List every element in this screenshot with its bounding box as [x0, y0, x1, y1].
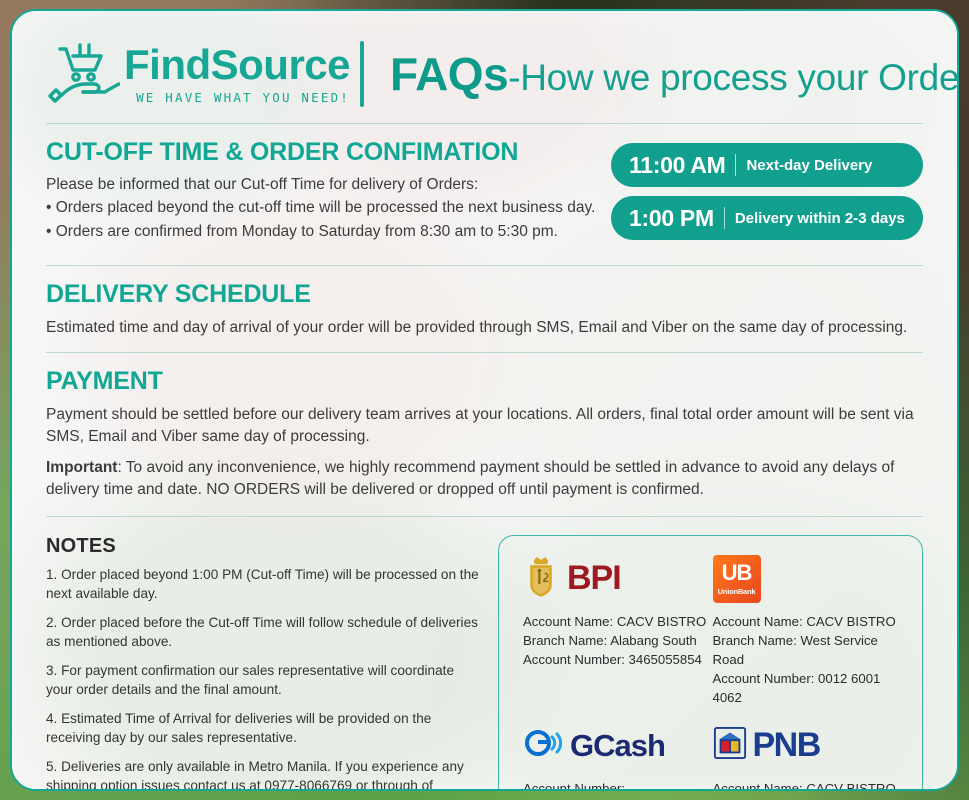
payment-method-bpi: BPI Account Name: CACV BISTRO Branch Nam…	[523, 554, 713, 707]
payment-methods-panel: BPI Account Name: CACV BISTRO Branch Nam…	[498, 535, 923, 791]
payment-method-pnb: PNB Account Name: CACV BISTRO Branch Nam…	[713, 721, 903, 791]
badge-time: 11:00 AM	[629, 152, 725, 179]
bpi-logo-icon	[523, 553, 559, 604]
bottom-area: NOTES 1. Order placed beyond 1:00 PM (Cu…	[46, 517, 923, 791]
unionbank-account-name: Account Name: CACV BISTRO	[713, 612, 903, 631]
payment-section: PAYMENT Payment should be settled before…	[46, 353, 923, 500]
page-title-strong: FAQs	[390, 48, 508, 100]
faq-card: FindSource WE HAVE WHAT YOU NEED! FAQs-H…	[10, 9, 959, 791]
cart-in-hand-icon	[46, 39, 120, 109]
payment-text: Payment should be settled before our del…	[46, 404, 923, 447]
important-text: : To avoid any inconvenience, we highly …	[46, 459, 894, 497]
note-item: 2. Order placed before the Cut-off Time …	[46, 613, 484, 651]
note-item: 1. Order placed beyond 1:00 PM (Cut-off …	[46, 565, 484, 603]
unionbank-account-number: Account Number: 0012 6001 4062	[713, 669, 903, 707]
poster-background: FindSource WE HAVE WHAT YOU NEED! FAQs-H…	[0, 0, 969, 800]
bpi-branch-name: Branch Name: Alabang South	[523, 631, 713, 650]
status-badge-next-day: 11:00 AM Next-day Delivery	[611, 143, 923, 187]
unionbank-branch-name: Branch Name: West Service Road	[713, 631, 903, 669]
pnb-logo-icon	[713, 726, 747, 765]
notes-title: NOTES	[46, 535, 484, 558]
brand-tagline: WE HAVE WHAT YOU NEED!	[124, 90, 350, 105]
delivery-title: DELIVERY SCHEDULE	[46, 280, 923, 309]
payment-method-unionbank: UB UnionBank Account Name: CACV BISTRO B…	[713, 554, 903, 707]
status-badge-2-3-days: 1:00 PM Delivery within 2-3 days	[611, 196, 923, 240]
badge-label: Next-day Delivery	[746, 157, 872, 174]
page-title: FAQs-How we process your Orders	[390, 47, 959, 101]
cutoff-title: CUT-OFF TIME & ORDER CONFIMATION	[46, 138, 611, 167]
note-item: 4. Estimated Time of Arrival for deliver…	[46, 709, 484, 747]
gcash-account-label: Account Number:	[523, 779, 713, 791]
badge-label: Delivery within 2-3 days	[735, 210, 905, 227]
badge-separator	[735, 154, 736, 176]
delivery-text: Estimated time and day of arrival of you…	[46, 317, 923, 338]
important-label: Important	[46, 459, 117, 476]
cutoff-badges: 11:00 AM Next-day Delivery 1:00 PM Deliv…	[611, 138, 923, 249]
delivery-schedule-section: DELIVERY SCHEDULE Estimated time and day…	[46, 266, 923, 338]
brand-name: FindSource	[124, 44, 350, 86]
unionbank-wordmark: UnionBank	[718, 587, 756, 596]
bpi-account-number: Account Number: 3465055854	[523, 650, 713, 669]
badge-time: 1:00 PM	[629, 205, 714, 232]
note-item: 3. For payment confirmation our sales re…	[46, 661, 484, 699]
cutoff-section: CUT-OFF TIME & ORDER CONFIMATION Please …	[46, 124, 923, 249]
bpi-account-name: Account Name: CACV BISTRO	[523, 612, 713, 631]
header-divider-bar	[360, 41, 364, 107]
page-title-rest: -How we process your Orders	[508, 57, 959, 98]
badge-separator	[724, 207, 725, 229]
brand-logo: FindSource WE HAVE WHAT YOU NEED!	[46, 39, 350, 109]
page-header: FindSource WE HAVE WHAT YOU NEED! FAQs-H…	[46, 11, 923, 123]
payment-method-gcash: GCash Account Number: 0977 806 6769	[523, 721, 713, 791]
gcash-wordmark: GCash	[570, 728, 665, 764]
pnb-wordmark: PNB	[753, 726, 820, 765]
unionbank-monogram: UB	[722, 562, 752, 584]
cutoff-bullet-1: • Orders placed beyond the cut-off time …	[46, 197, 611, 218]
payment-important: Important: To avoid any inconvenience, w…	[46, 457, 923, 500]
cutoff-intro: Please be informed that our Cut-off Time…	[46, 174, 611, 195]
cutoff-bullet-2: • Orders are confirmed from Monday to Sa…	[46, 221, 611, 242]
gcash-logo-icon	[523, 726, 563, 765]
pnb-account-name: Account Name: CACV BISTRO	[713, 779, 903, 791]
bpi-wordmark: BPI	[567, 559, 621, 598]
notes-section: NOTES 1. Order placed beyond 1:00 PM (Cu…	[46, 535, 498, 791]
payment-title: PAYMENT	[46, 367, 923, 396]
unionbank-logo-icon: UB UnionBank	[713, 555, 761, 603]
note-item: 5. Deliveries are only available in Metr…	[46, 757, 484, 791]
